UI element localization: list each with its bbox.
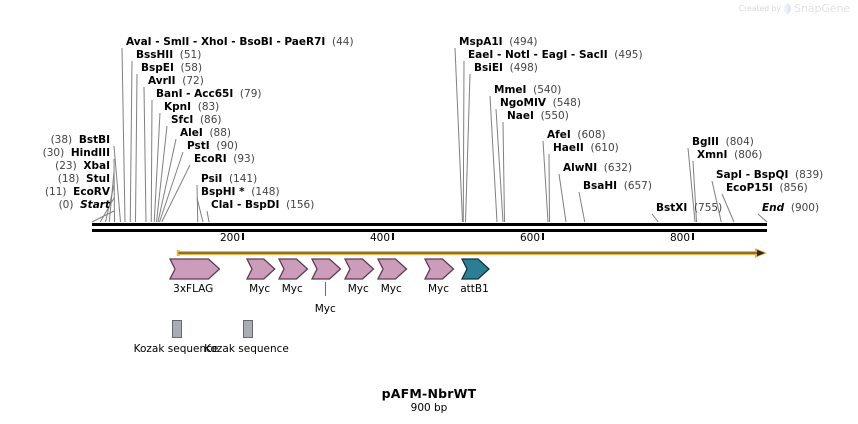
kozak-box-kozak-1[interactable] bbox=[172, 320, 182, 338]
page-title: pAFM-NbrWT bbox=[0, 386, 858, 401]
feature-arrow-myc-5[interactable] bbox=[377, 258, 408, 280]
feature-label-myc-3: Myc bbox=[285, 303, 365, 315]
plasmid-map: Created by SnapGene (0) Start(11) EcoRV(… bbox=[0, 0, 858, 424]
feature-arrow-myc-2[interactable] bbox=[278, 258, 309, 280]
feature-arrow-myc-6[interactable] bbox=[424, 258, 455, 280]
feature-arrow-3xflag[interactable] bbox=[169, 258, 221, 280]
feature-arrow-attb1[interactable] bbox=[461, 258, 490, 280]
feature-arrow-myc-4[interactable] bbox=[344, 258, 375, 280]
orf-arrow bbox=[0, 0, 858, 424]
feature-label-attb1: attB1 bbox=[435, 283, 515, 295]
feature-arrow-myc-3[interactable] bbox=[311, 258, 342, 280]
kozak-label-kozak-2: Kozak sequence bbox=[187, 343, 307, 355]
kozak-box-kozak-2[interactable] bbox=[243, 320, 253, 338]
plasmid-length-label: 900 bp bbox=[0, 402, 858, 414]
feature-arrow-myc-1[interactable] bbox=[246, 258, 276, 280]
